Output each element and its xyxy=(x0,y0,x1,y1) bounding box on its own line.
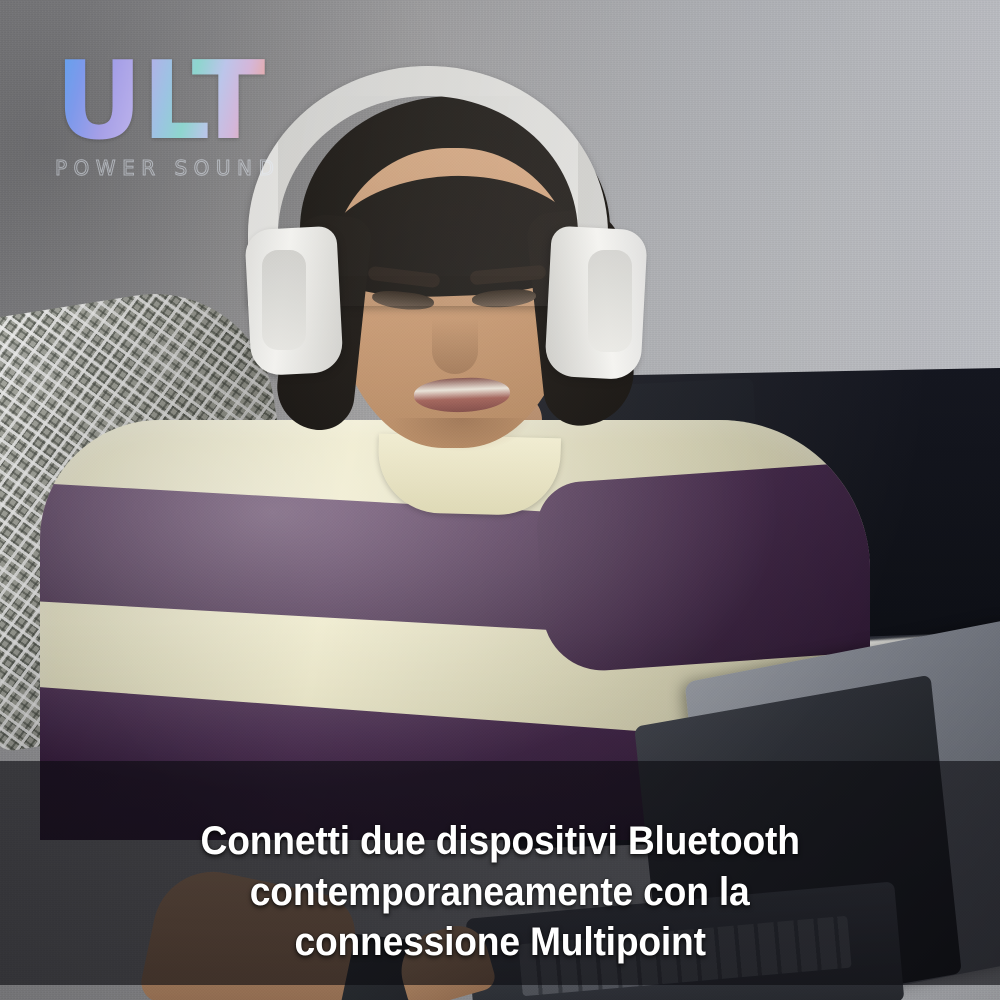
product-lifestyle-image: ULT POWER SOUND Connetti due dispositivi… xyxy=(0,0,1000,1000)
caption-line-2: contemporaneamente con la xyxy=(250,868,750,917)
caption-line-3: connessione Multipoint xyxy=(294,918,705,967)
person-chin-shadow xyxy=(392,418,532,452)
caption-line-1: Connetti due dispositivi Bluetooth xyxy=(200,817,799,866)
person-nose xyxy=(432,318,478,374)
caption-block: Connetti due dispositivi Bluetooth conte… xyxy=(0,761,1000,985)
headphones-earcup-right-pad xyxy=(588,250,632,352)
headphones-earcup-left-pad xyxy=(262,250,306,350)
